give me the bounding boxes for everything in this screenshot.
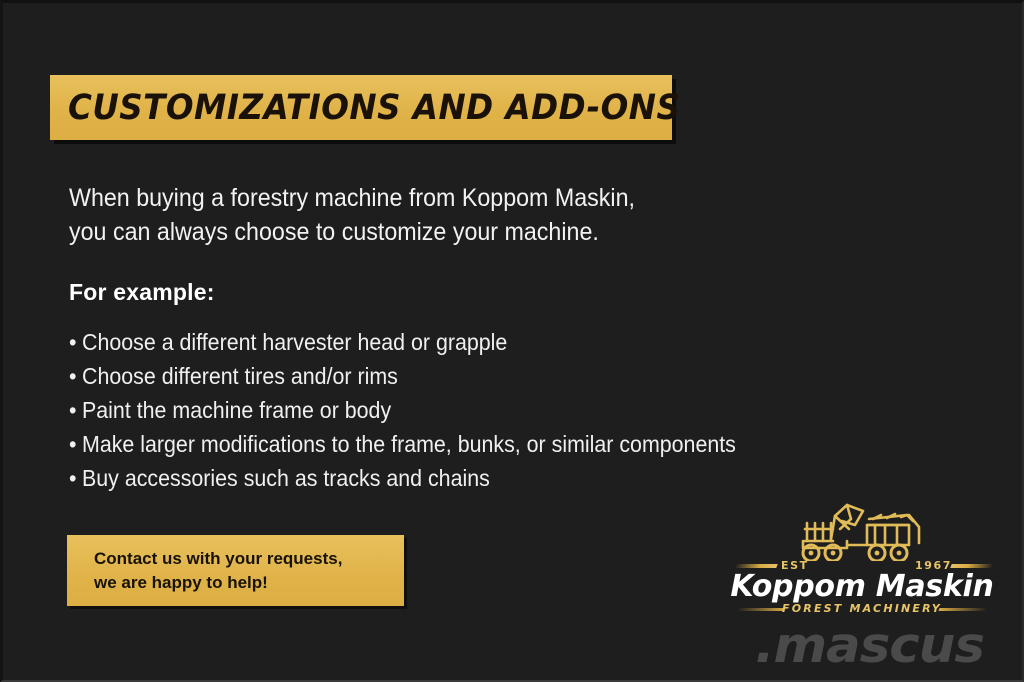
swoosh-left-decoration <box>734 564 778 568</box>
list-item-label: Make larger modifications to the frame, … <box>82 431 736 457</box>
bullet-marker-icon: • <box>69 427 82 461</box>
title-banner: CUSTOMIZATIONS AND ADD-ONS <box>50 75 672 140</box>
mascus-watermark: .mascus <box>755 617 984 674</box>
logo-brand-name: Koppom Maskin <box>729 569 995 604</box>
swoosh-right-decoration <box>950 564 994 568</box>
intro-line-2: you can always choose to customize your … <box>69 215 720 249</box>
page-title: CUSTOMIZATIONS AND ADD-ONS <box>68 88 680 128</box>
logo-tagline: FOREST MACHINERY <box>729 602 995 615</box>
bullet-marker-icon: • <box>69 393 82 427</box>
promotional-slide: CUSTOMIZATIONS AND ADD-ONS When buying a… <box>0 0 1024 682</box>
list-item: •Choose different tires and/or rims <box>69 359 794 393</box>
for-example-label: For example: <box>69 279 215 306</box>
list-item-label: Choose different tires and/or rims <box>82 363 398 389</box>
forestry-forwarder-icon <box>785 499 935 561</box>
bullet-marker-icon: • <box>69 359 82 393</box>
list-item: •Make larger modifications to the frame,… <box>69 427 794 461</box>
list-item-label: Paint the machine frame or body <box>82 397 391 423</box>
bullet-marker-icon: • <box>69 325 82 359</box>
koppom-maskin-logo: EST 1967 Koppom Maskin FOREST MACHINERY <box>729 499 995 615</box>
list-item: •Paint the machine frame or body <box>69 393 794 427</box>
contact-line-2: we are happy to help! <box>94 571 404 595</box>
list-item-label: Choose a different harvester head or gra… <box>82 329 507 355</box>
list-item: •Choose a different harvester head or gr… <box>69 325 794 359</box>
list-item-label: Buy accessories such as tracks and chain… <box>82 465 490 491</box>
list-item: •Buy accessories such as tracks and chai… <box>69 461 794 495</box>
bullet-marker-icon: • <box>69 461 82 495</box>
intro-line-1: When buying a forestry machine from Kopp… <box>69 181 720 215</box>
customization-options-list: •Choose a different harvester head or gr… <box>69 325 849 495</box>
intro-paragraph: When buying a forestry machine from Kopp… <box>69 181 720 249</box>
contact-line-1: Contact us with your requests, <box>94 547 404 571</box>
contact-cta-box[interactable]: Contact us with your requests, we are ha… <box>67 535 404 606</box>
